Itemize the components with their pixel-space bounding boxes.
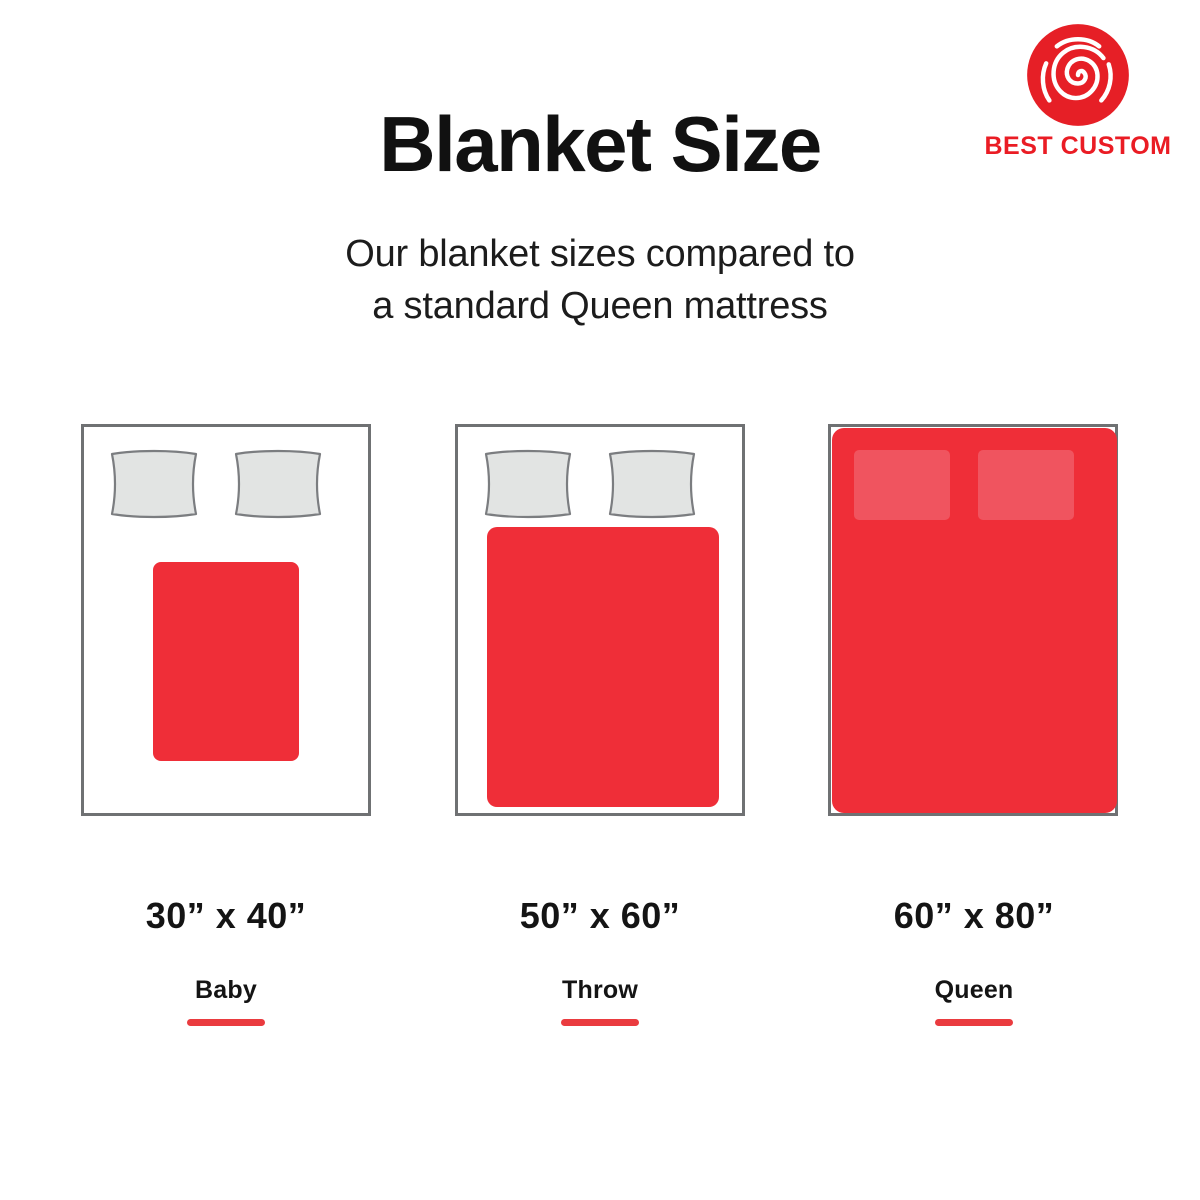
bed-comparison-diagram bbox=[0, 424, 1200, 816]
size-dimensions: 30” x 40” bbox=[46, 898, 406, 934]
pillow-icon bbox=[230, 449, 326, 519]
mattress-outline-throw bbox=[455, 424, 745, 816]
size-name: Throw bbox=[420, 978, 780, 1003]
page-subtitle: Our blanket sizes compared to a standard… bbox=[0, 228, 1200, 333]
page-subtitle-line-1: Our blanket sizes compared to bbox=[0, 228, 1200, 280]
blanket-swatch-queen bbox=[832, 428, 1117, 813]
size-name: Queen bbox=[794, 978, 1154, 1003]
blanket-swatch-baby bbox=[153, 562, 299, 761]
accent-rule bbox=[187, 1019, 265, 1026]
pillow-icon bbox=[854, 450, 950, 520]
pillow-icon bbox=[978, 450, 1074, 520]
blanket-swatch-throw bbox=[487, 527, 719, 807]
size-dimensions: 60” x 80” bbox=[794, 898, 1154, 934]
pillow-icon bbox=[480, 449, 576, 519]
size-caption-queen: 60” x 80” Queen bbox=[794, 898, 1154, 1026]
size-captions: 30” x 40” Baby 50” x 60” Throw 60” x 80”… bbox=[0, 898, 1200, 1058]
accent-rule bbox=[935, 1019, 1013, 1026]
accent-rule bbox=[561, 1019, 639, 1026]
size-dimensions: 50” x 60” bbox=[420, 898, 780, 934]
mattress-outline-queen bbox=[828, 424, 1118, 816]
size-caption-throw: 50” x 60” Throw bbox=[420, 898, 780, 1026]
pillow-icon bbox=[604, 449, 700, 519]
size-caption-baby: 30” x 40” Baby bbox=[46, 898, 406, 1026]
mattress-outline-baby bbox=[81, 424, 371, 816]
page-subtitle-line-2: a standard Queen mattress bbox=[0, 280, 1200, 332]
pillow-icon bbox=[106, 449, 202, 519]
size-name: Baby bbox=[46, 978, 406, 1003]
page-title: Blanket Size bbox=[0, 104, 1200, 186]
